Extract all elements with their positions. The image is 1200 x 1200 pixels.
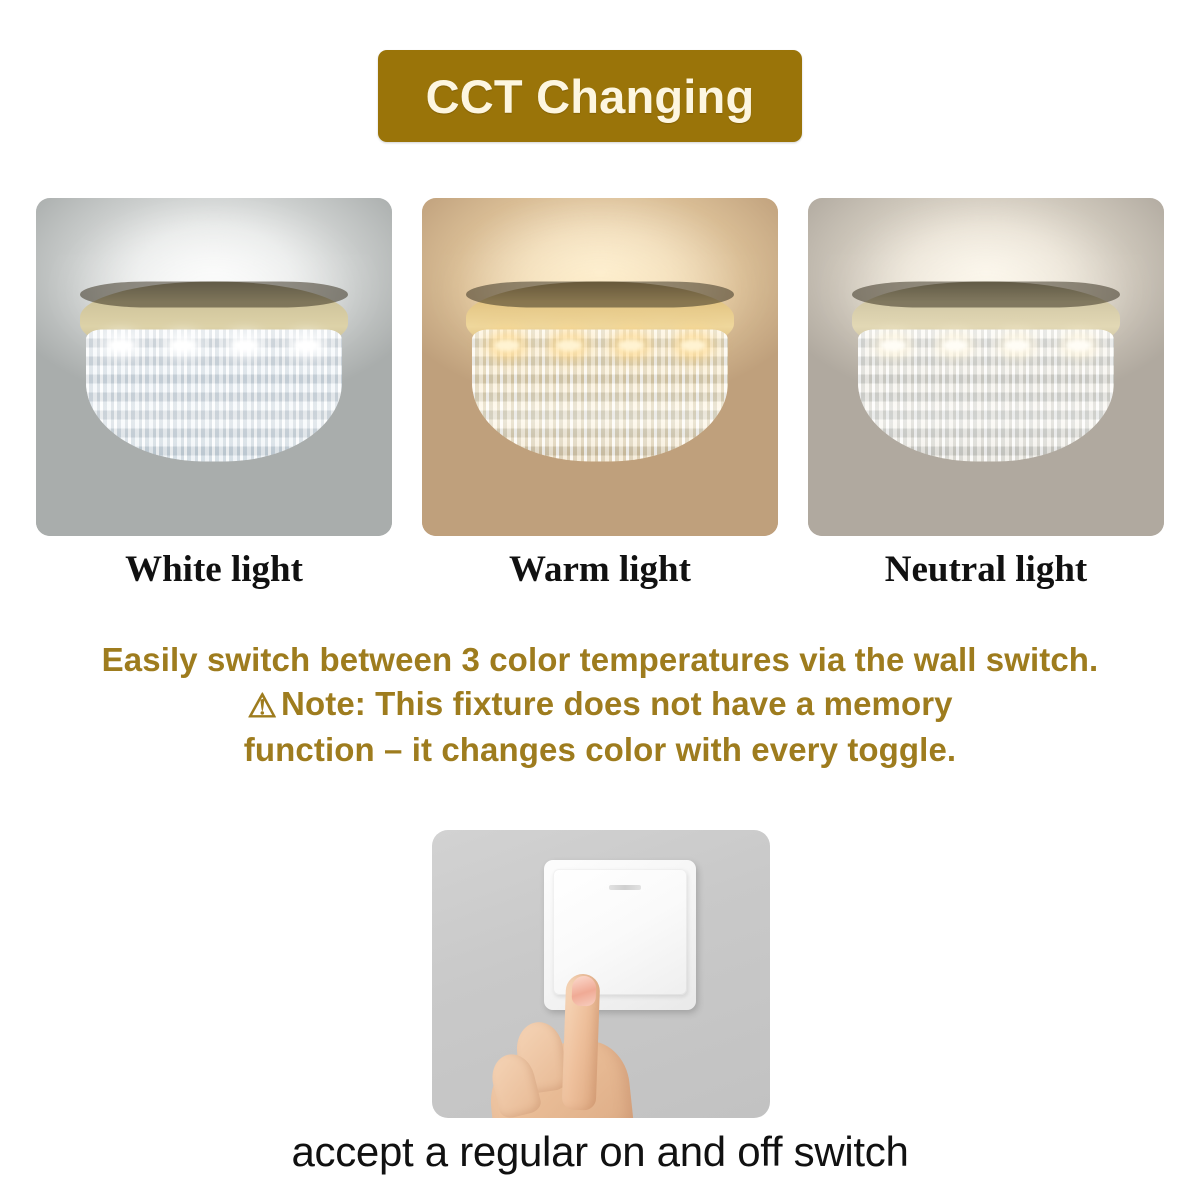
caption-wall-switch: accept a regular on and off switch (0, 1122, 1200, 1182)
bulb-glow (680, 339, 706, 351)
photo-panel-neutral-light[interactable] (808, 198, 1164, 536)
fixture-bulb-row (862, 337, 1110, 353)
fixture-bulb-row (90, 337, 338, 353)
bulb-glow (942, 339, 968, 351)
bulb-glow (618, 339, 644, 351)
fixture-bulb-row (476, 337, 724, 353)
bulb-glow (294, 339, 320, 351)
photo-panel-warm-light[interactable] (422, 198, 778, 536)
description-line-2-wrapper: ⚠Note: This fixture does not have a memo… (0, 682, 1200, 728)
crystal-ceiling-light-fixture (80, 281, 348, 467)
switch-indicator-strip (609, 885, 641, 890)
description-line-1: Easily switch between 3 color temperatur… (0, 638, 1200, 682)
title-banner: CCT Changing (378, 50, 802, 142)
caption-warm-light: Warm light (422, 542, 778, 598)
bulb-glow (494, 339, 520, 351)
photo-panel-group (36, 198, 1164, 536)
bulb-glow (108, 339, 134, 351)
page-title: CCT Changing (426, 73, 755, 120)
caption-white-light: White light (36, 542, 392, 598)
description-line-3: function – it changes color with every t… (0, 728, 1200, 772)
bulb-glow (1066, 339, 1092, 351)
caption-neutral-light: Neutral light (808, 542, 1164, 598)
bulb-glow (170, 339, 196, 351)
hand-pressing-switch (490, 982, 658, 1118)
bulb-glow (880, 339, 906, 351)
bulb-glow (1004, 339, 1030, 351)
description-line-2: Note: This fixture does not have a memor… (281, 685, 953, 722)
bulb-glow (556, 339, 582, 351)
photo-panel-wall-switch[interactable] (432, 830, 770, 1118)
photo-panel-white-light[interactable] (36, 198, 392, 536)
crystal-ceiling-light-fixture (852, 281, 1120, 467)
bulb-glow (232, 339, 258, 351)
fingernail (571, 976, 596, 1007)
warning-triangle-icon: ⚠ (247, 684, 277, 728)
description-block: Easily switch between 3 color temperatur… (0, 638, 1200, 772)
infographic-page: CCT Changing (0, 0, 1200, 1200)
photo-caption-group: White light Warm light Neutral light (36, 542, 1164, 598)
crystal-ceiling-light-fixture (466, 281, 734, 467)
